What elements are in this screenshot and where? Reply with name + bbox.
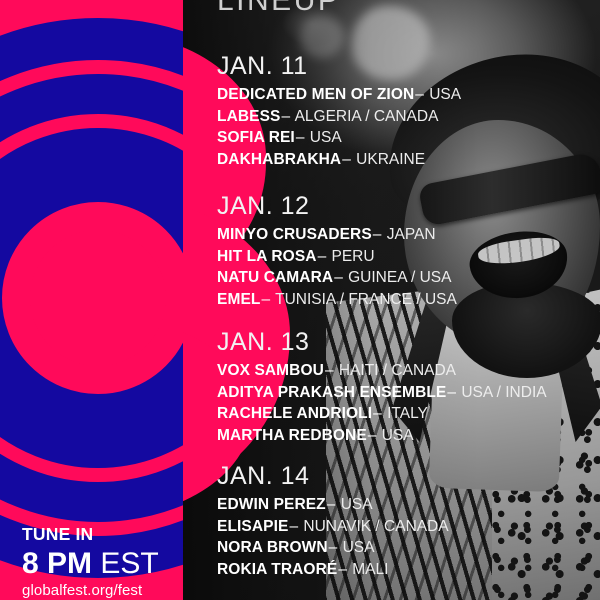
- day-date: JAN. 14: [217, 462, 600, 491]
- act-row: LABESS– ALGERIA / CANADA: [217, 106, 600, 128]
- act-dash: –: [324, 362, 335, 379]
- website-url[interactable]: globalfest.org/fest: [22, 582, 187, 600]
- act-name: NORA BROWN: [217, 539, 328, 556]
- act-name: EDWIN PEREZ: [217, 496, 326, 513]
- act-row: RACHELE ANDRIOLI– ITALY: [217, 403, 600, 425]
- act-row: DAKHABRAKHA– UKRAINE: [217, 149, 600, 171]
- act-row: NORA BROWN– USA: [217, 537, 600, 559]
- concentric-ring-core: [30, 230, 166, 366]
- act-name: VOX SAMBOU: [217, 362, 324, 379]
- act-name: SOFIA REI: [217, 129, 295, 146]
- act-name: EMEL: [217, 291, 260, 308]
- act-country: USA: [382, 427, 414, 444]
- poster: LINEUP JAN. 11 DEDICATED MEN OF ZION– US…: [0, 0, 600, 600]
- day-date: JAN. 11: [217, 52, 600, 81]
- broadcast-time-value: 8 PM: [22, 547, 92, 580]
- act-name: RACHELE ANDRIOLI: [217, 405, 372, 422]
- act-dash: –: [337, 561, 348, 578]
- act-row: EDWIN PEREZ– USA: [217, 494, 600, 516]
- act-country: GUINEA / USA: [348, 269, 451, 286]
- day-block-jan-13: JAN. 13 VOX SAMBOU– HAITI / CANADA ADITY…: [217, 328, 600, 446]
- act-dash: –: [317, 248, 328, 265]
- act-country: HAITI / CANADA: [339, 362, 456, 379]
- lineup-section: LINEUP JAN. 11 DEDICATED MEN OF ZION– US…: [217, 0, 600, 600]
- act-row: ADITYA PRAKASH ENSEMBLE– USA / INDIA: [217, 382, 600, 404]
- act-row: VOX SAMBOU– HAITI / CANADA: [217, 360, 600, 382]
- act-row: ELISAPIE– NUNAVIK / CANADA: [217, 516, 600, 538]
- act-dash: –: [372, 226, 383, 243]
- act-name: MARTHA REDBONE: [217, 427, 367, 444]
- tune-in-block: TUNE IN 8 PM EST globalfest.org/fest: [22, 524, 187, 600]
- act-row: MARTHA REDBONE– USA: [217, 425, 600, 447]
- act-country: JAPAN: [387, 226, 436, 243]
- act-dash: –: [280, 108, 291, 125]
- tune-in-label: TUNE IN: [22, 524, 187, 545]
- act-dash: –: [333, 269, 344, 286]
- act-country: USA: [429, 86, 461, 103]
- act-name: HIT LA ROSA: [217, 248, 317, 265]
- page-title: LINEUP: [217, 0, 340, 18]
- act-name: DAKHABRAKHA: [217, 151, 341, 168]
- day-block-jan-12: JAN. 12 MINYO CRUSADERS– JAPAN HIT LA RO…: [217, 192, 600, 310]
- act-country: ITALY: [387, 405, 428, 422]
- broadcast-timezone: EST: [92, 547, 159, 580]
- act-dash: –: [414, 86, 425, 103]
- act-country: TUNISIA / FRANCE / USA: [275, 291, 457, 308]
- act-country: USA: [310, 129, 342, 146]
- act-row: EMEL– TUNISIA / FRANCE / USA: [217, 289, 600, 311]
- act-name: ADITYA PRAKASH ENSEMBLE: [217, 384, 446, 401]
- act-name: DEDICATED MEN OF ZION: [217, 86, 414, 103]
- brand-panel: [0, 0, 183, 600]
- act-dash: –: [446, 384, 457, 401]
- act-row: DEDICATED MEN OF ZION– USA: [217, 84, 600, 106]
- act-name: LABESS: [217, 108, 280, 125]
- day-date: JAN. 13: [217, 328, 600, 357]
- act-country: UKRAINE: [356, 151, 425, 168]
- act-dash: –: [260, 291, 271, 308]
- act-row: HIT LA ROSA– PERU: [217, 246, 600, 268]
- act-dash: –: [288, 518, 299, 535]
- act-row: SOFIA REI– USA: [217, 127, 600, 149]
- act-name: MINYO CRUSADERS: [217, 226, 372, 243]
- act-country: USA / INDIA: [461, 384, 546, 401]
- act-dash: –: [295, 129, 306, 146]
- act-name: ROKIA TRAORÉ: [217, 561, 337, 578]
- act-country: USA: [343, 539, 375, 556]
- act-country: PERU: [332, 248, 375, 265]
- day-block-jan-11: JAN. 11 DEDICATED MEN OF ZION– USA LABES…: [217, 52, 600, 170]
- day-date: JAN. 12: [217, 192, 600, 221]
- act-country: NUNAVIK / CANADA: [303, 518, 448, 535]
- act-row: ROKIA TRAORÉ– MALI: [217, 559, 600, 581]
- act-dash: –: [328, 539, 339, 556]
- act-row: NATU CAMARA– GUINEA / USA: [217, 267, 600, 289]
- broadcast-time: 8 PM EST: [22, 547, 187, 581]
- act-country: MALI: [352, 561, 388, 578]
- act-row: MINYO CRUSADERS– JAPAN: [217, 224, 600, 246]
- day-block-jan-14: JAN. 14 EDWIN PEREZ– USA ELISAPIE– NUNAV…: [217, 462, 600, 580]
- act-name: ELISAPIE: [217, 518, 288, 535]
- act-country: ALGERIA / CANADA: [295, 108, 439, 125]
- act-country: USA: [341, 496, 373, 513]
- act-dash: –: [326, 496, 337, 513]
- act-name: NATU CAMARA: [217, 269, 333, 286]
- act-dash: –: [341, 151, 352, 168]
- act-dash: –: [367, 427, 378, 444]
- act-dash: –: [372, 405, 383, 422]
